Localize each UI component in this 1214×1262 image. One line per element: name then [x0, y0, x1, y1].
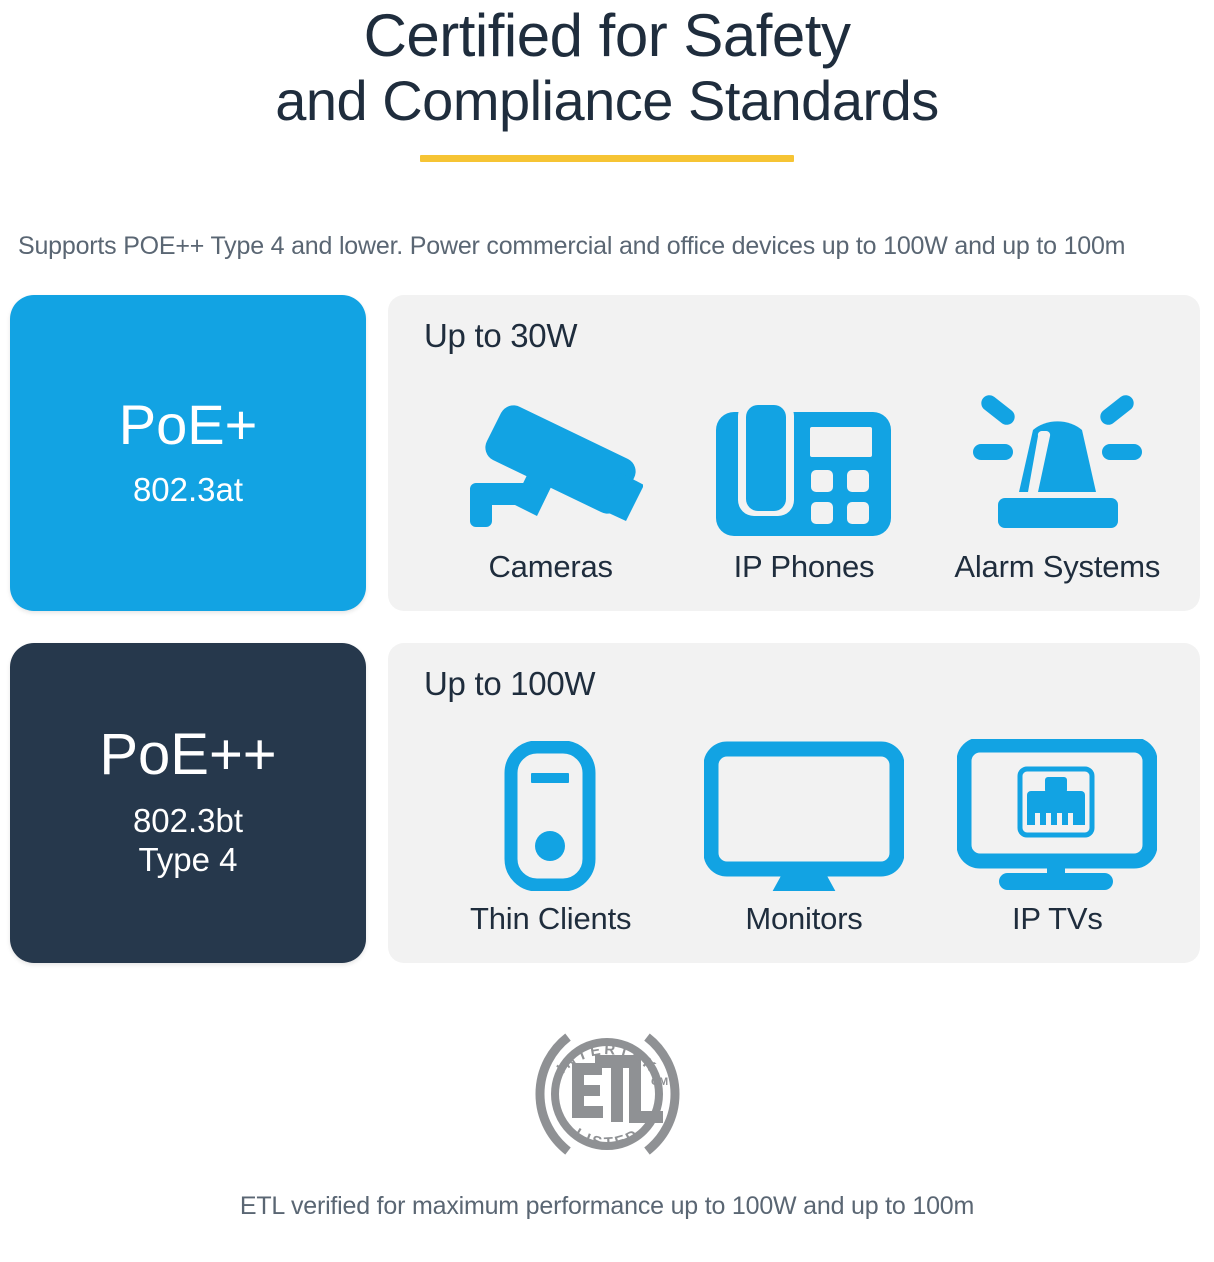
device-item-cameras: Cameras — [426, 389, 676, 585]
device-label-ip-tvs: IP TVs — [1012, 901, 1103, 937]
ip-tv-icon — [957, 741, 1157, 891]
poe-plus-row: PoE+ 802.3at Up to 30W — [10, 295, 1200, 611]
page-title-line-2: and Compliance Standards — [0, 69, 1214, 133]
device-label-monitors: Monitors — [745, 901, 862, 937]
etl-mark-suffix: CM — [651, 1076, 668, 1088]
title-divider-wrap — [0, 155, 1214, 162]
etl-listed-intertek-seal-icon: CM INTERTEK LISTED — [525, 1015, 690, 1178]
alarm-siren-icon — [955, 389, 1160, 539]
poe-plusplus-badge-standard: 802.3bt Type 4 — [133, 802, 243, 880]
device-item-monitors: Monitors — [679, 741, 929, 937]
page-title-line-1: Certified for Safety — [0, 4, 1214, 69]
poe-plusplus-badge: PoE++ 802.3bt Type 4 — [10, 643, 366, 963]
poe-plus-badge: PoE+ 802.3at — [10, 295, 366, 611]
poe-plus-badge-standard: 802.3at — [133, 471, 243, 510]
camera-icon — [458, 389, 643, 539]
poe-plus-badge-title: PoE+ — [119, 397, 258, 453]
device-label-cameras: Cameras — [488, 549, 612, 585]
poe-plusplus-standard-line-1: 802.3bt — [133, 802, 243, 841]
poe-plusplus-row: PoE++ 802.3bt Type 4 Up to 100W — [10, 643, 1200, 963]
poe-plusplus-device-list: Thin Clients Monitors — [424, 703, 1184, 955]
poe-plus-device-list: Cameras — [424, 355, 1184, 603]
poe-plusplus-badge-title: PoE++ — [99, 726, 276, 784]
device-label-alarm-systems: Alarm Systems — [954, 549, 1160, 585]
device-label-thin-clients: Thin Clients — [470, 901, 631, 937]
thin-client-icon — [501, 741, 601, 891]
poe-rows: PoE+ 802.3at Up to 30W — [0, 295, 1214, 963]
ip-phone-icon — [716, 389, 891, 539]
device-item-thin-clients: Thin Clients — [426, 741, 676, 937]
subtitle-text: Supports POE++ Type 4 and lower. Power c… — [0, 232, 1214, 261]
poe-plusplus-power-heading: Up to 100W — [424, 665, 1184, 703]
poe-plus-device-panel: Up to 30W — [388, 295, 1200, 611]
device-item-ip-phones: IP Phones — [679, 389, 929, 585]
poe-plus-power-heading: Up to 30W — [424, 317, 1184, 355]
poe-plusplus-device-panel: Up to 100W Thin Clients — [388, 643, 1200, 963]
svg-text:LISTED: LISTED — [571, 1125, 643, 1152]
page-header: Certified for Safety and Compliance Stan… — [0, 0, 1214, 162]
device-item-ip-tvs: IP TVs — [932, 741, 1182, 937]
device-label-ip-phones: IP Phones — [734, 549, 875, 585]
poe-plusplus-standard-line-2: Type 4 — [133, 841, 243, 880]
yellow-divider — [420, 155, 794, 162]
device-item-alarm-systems: Alarm Systems — [932, 389, 1182, 585]
etl-caption-text: ETL verified for maximum performance up … — [240, 1192, 974, 1221]
etl-certification-block: CM INTERTEK LISTED ETL verified for maxi… — [0, 1015, 1214, 1221]
monitor-icon — [704, 741, 904, 891]
